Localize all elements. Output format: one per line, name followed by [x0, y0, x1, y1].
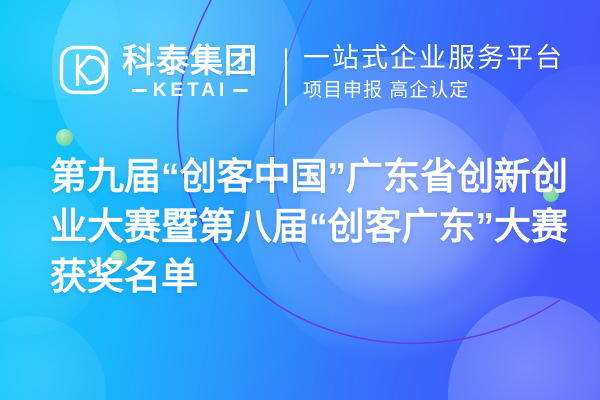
- promo-banner: 科泰集团 KETAI 一站式企业服务平台 项目申报 高企认定 第九届“创客中国”…: [0, 0, 600, 400]
- header-divider: [285, 48, 287, 106]
- brand-name-en: KETAI: [153, 81, 229, 100]
- wordmark-dash-left-icon: [132, 89, 147, 92]
- tagline-sub: 项目申报 高企认定: [303, 79, 564, 103]
- decorative-blob-bottom-left: [0, 316, 106, 400]
- brand-wordmark: 科泰集团 KETAI: [122, 42, 258, 100]
- banner-title-line-1: 第九届“创客中国”广东省创新创: [50, 152, 590, 202]
- brand-logo[interactable]: 科泰集团 KETAI: [56, 42, 258, 100]
- banner-title-line-2: 业大赛暨第八届“创客广东”大赛: [50, 202, 590, 252]
- brand-name-cn: 科泰集团: [122, 44, 258, 78]
- decorative-blob-bottom-right: [448, 296, 600, 400]
- brand-tagline: 一站式企业服务平台 项目申报 高企认定: [303, 42, 564, 103]
- tagline-main: 一站式企业服务平台: [303, 42, 564, 74]
- banner-title-line-3: 获奖名单: [50, 252, 590, 302]
- banner-header: 科泰集团 KETAI 一站式企业服务平台 项目申报 高企认定: [0, 0, 600, 140]
- banner-title: 第九届“创客中国”广东省创新创 业大赛暨第八届“创客广东”大赛 获奖名单: [50, 152, 590, 302]
- ketai-kd-monogram-icon: [56, 42, 112, 98]
- brand-name-en-row: KETAI: [122, 81, 258, 100]
- wordmark-dash-right-icon: [233, 89, 248, 92]
